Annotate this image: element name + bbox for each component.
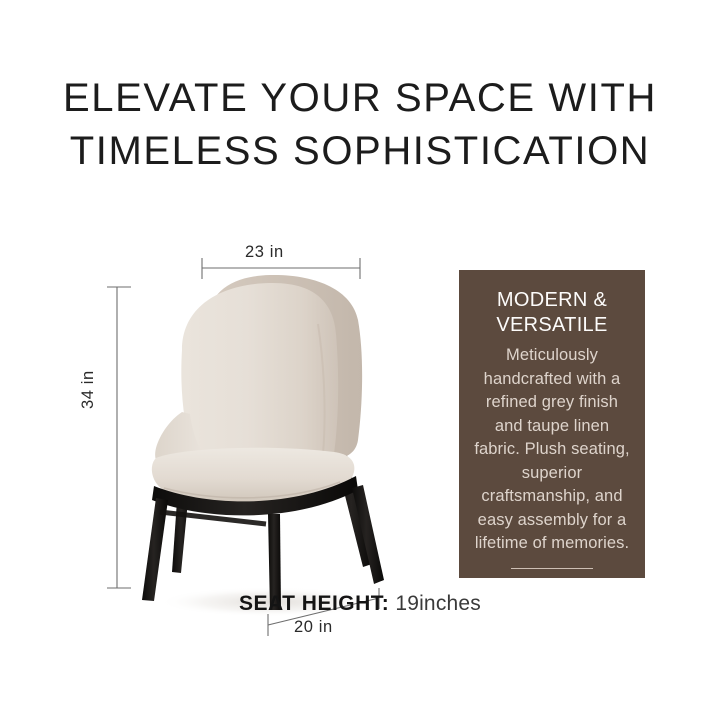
info-panel-heading: MODERN & VERSATILE bbox=[471, 288, 633, 338]
info-panel: MODERN & VERSATILE Meticulously handcraf… bbox=[459, 270, 645, 578]
info-panel-body: Meticulously handcrafted with a refined … bbox=[471, 344, 633, 556]
page-title: ELEVATE YOUR SPACE WITH TIMELESS SOPHIST… bbox=[0, 72, 720, 178]
headline-line-2: TIMELESS SOPHISTICATION bbox=[0, 125, 720, 178]
dimension-label-width: 23 in bbox=[245, 243, 284, 262]
product-image-chair bbox=[120, 262, 410, 622]
info-panel-divider bbox=[511, 568, 593, 569]
dimension-label-height: 34 in bbox=[79, 370, 98, 409]
seat-height-label: SEAT HEIGHT: bbox=[239, 592, 389, 615]
seat-height-value: 19inches bbox=[395, 592, 481, 615]
seat-height-row: SEAT HEIGHT:19inches bbox=[0, 592, 720, 616]
headline-line-1: ELEVATE YOUR SPACE WITH bbox=[0, 72, 720, 125]
dimension-label-depth: 20 in bbox=[294, 618, 333, 637]
product-infographic: ELEVATE YOUR SPACE WITH TIMELESS SOPHIST… bbox=[0, 0, 720, 720]
chair-backrest-front bbox=[181, 283, 338, 463]
